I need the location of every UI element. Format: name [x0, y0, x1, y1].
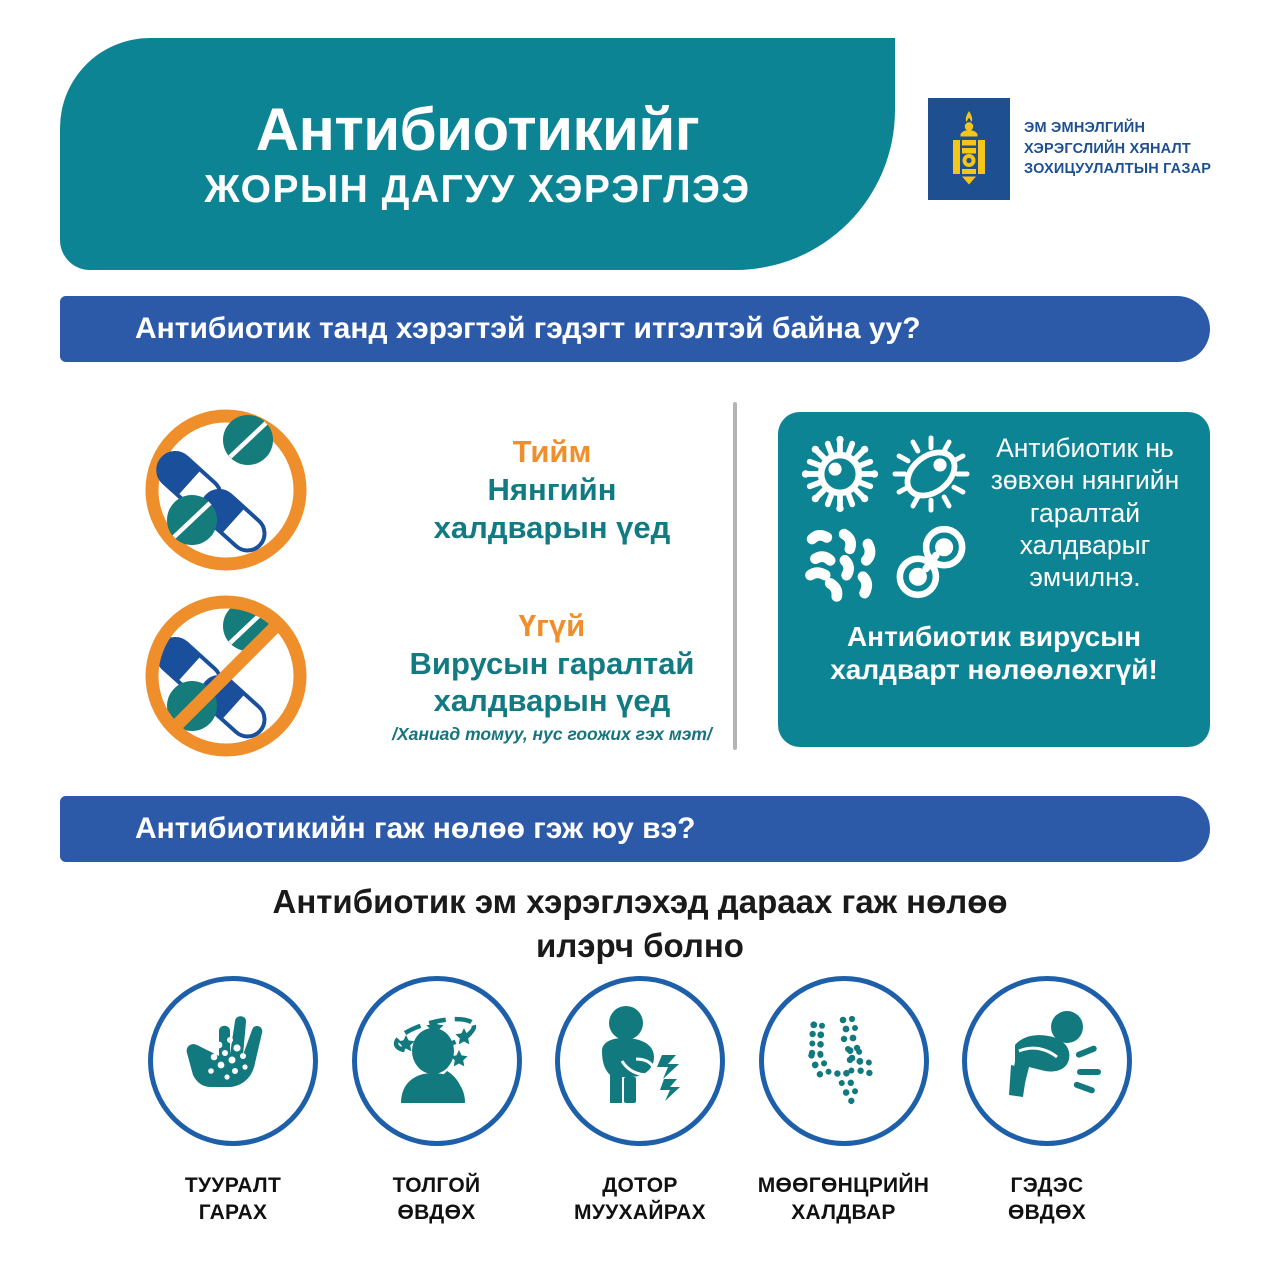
antibiotic-warning-text: Антибиотик вирусын халдварт нөлөөлөхгүй!	[794, 620, 1194, 686]
side-effect-item: ДОТОР МУУХАЙРАХ	[547, 976, 733, 1227]
stomach-ache-icon	[962, 976, 1132, 1146]
antibiotic-info-paragraph: Антибиотик нь зөвхөн нянгийн гаралтай ха…	[976, 430, 1194, 594]
hand-rash-icon	[148, 976, 318, 1146]
side-effect-label: ДОТОР МУУХАЙРАХ	[574, 1172, 706, 1227]
label-line-1: ТОЛГОЙ	[393, 1172, 481, 1199]
side-effect-label: ГЭДЭС ӨВДӨХ	[1008, 1172, 1086, 1227]
warning-line-2: халдварт нөлөөлөхгүй!	[794, 653, 1194, 686]
no-flag-label: Үгүй	[352, 607, 752, 645]
pills-forbidden-icon	[140, 590, 312, 762]
heading-line-2: илэрч болно	[0, 924, 1280, 968]
label-line-1: ТУУРАЛТ	[185, 1172, 281, 1199]
infographic-page: Антибиотикийг ЖОРЫН ДАГУУ ХЭРЭГЛЭЭ	[0, 0, 1280, 1280]
antibiotic-info-box: Антибиотик нь зөвхөн нянгийн гаралтай ха…	[778, 412, 1210, 747]
side-effect-label: ТОЛГОЙ ӨВДӨХ	[393, 1172, 481, 1227]
diplococcus-chain-icon	[885, 518, 976, 606]
side-effect-item: МӨӨГӨНЦРИЙН ХАЛДВАР	[751, 976, 937, 1227]
side-effect-item: ТУУРАЛТ ГАРАХ	[140, 976, 326, 1227]
dizzy-head-icon	[352, 976, 522, 1146]
label-line-1: ГЭДЭС	[1008, 1172, 1086, 1199]
page-title: Антибиотикийг	[256, 100, 700, 160]
yes-flag-label: Тийм	[352, 433, 752, 471]
page-subtitle: ЖОРЫН ДАГУУ ХЭРЭГЛЭЭ	[204, 170, 750, 209]
side-effects-heading: Антибиотик эм хэрэглэхэд дараах гаж нөлө…	[0, 880, 1280, 967]
yes-desc-line-2: халдварын үед	[352, 509, 752, 547]
org-line-1: ЭМ ЭМНЭЛГИЙН	[1024, 118, 1211, 139]
side-effect-item: ГЭДЭС ӨВДӨХ	[954, 976, 1140, 1227]
header-banner: Антибиотикийг ЖОРЫН ДАГУУ ХЭРЭГЛЭЭ	[60, 38, 895, 270]
yes-desc-line-1: Нянгийн	[352, 471, 752, 509]
side-effect-label: ТУУРАЛТ ГАРАХ	[185, 1172, 281, 1227]
no-desc-line-1: Вирусын гаралтай	[352, 645, 752, 683]
no-row: Үгүй Вирусын гаралтай халдварын үед /Хан…	[140, 590, 752, 762]
mongolia-soyombo-flag-icon	[928, 98, 1010, 200]
organization-logo: ЭМ ЭМНЭЛГИЙН ХЭРЭГСЛИЙН ХЯНАЛТ ЗОХИЦУУЛА…	[928, 98, 1211, 200]
bacterium-flagella-icon	[885, 430, 976, 518]
side-effect-label: МӨӨГӨНЦРИЙН ХАЛДВАР	[758, 1172, 930, 1227]
label-line-1: МӨӨГӨНЦРИЙН	[758, 1172, 930, 1199]
banner-1-text: Антибиотик танд хэрэгтэй гэдэгт итгэлтэй…	[135, 312, 921, 346]
teal-box-top: Антибиотик нь зөвхөн нянгийн гаралтай ха…	[794, 430, 1194, 606]
section-banner-side-effects: Антибиотикийн гаж нөлөө гэж юу вэ?	[60, 796, 1210, 862]
germ-icon-grid	[794, 430, 976, 606]
nausea-person-icon	[555, 976, 725, 1146]
section-banner-need-antibiotic: Антибиотик танд хэрэгтэй гэдэгт итгэлтэй…	[60, 296, 1210, 362]
bacilli-cluster-icon	[794, 518, 885, 606]
label-line-2: ХАЛДВАР	[758, 1199, 930, 1226]
fungal-spores-icon	[759, 976, 929, 1146]
heading-line-1: Антибиотик эм хэрэглэхэд дараах гаж нөлө…	[0, 880, 1280, 924]
label-line-2: МУУХАЙРАХ	[574, 1199, 706, 1226]
label-line-2: ГАРАХ	[185, 1199, 281, 1226]
warning-line-1: Антибиотик вирусын	[794, 620, 1194, 653]
label-line-1: ДОТОР	[574, 1172, 706, 1199]
yes-text-block: Тийм Нянгийн халдварын үед	[352, 433, 752, 546]
banner-2-text: Антибиотикийн гаж нөлөө гэж юу вэ?	[135, 812, 695, 846]
label-line-2: ӨВДӨХ	[1008, 1199, 1086, 1226]
virus-spiky-icon	[794, 430, 885, 518]
no-desc-line-2: халдварын үед	[352, 682, 752, 720]
pills-allowed-icon	[140, 404, 312, 576]
yes-row: Тийм Нянгийн халдварын үед	[140, 404, 752, 576]
org-line-3: ЗОХИЦУУЛАЛТЫН ГАЗАР	[1024, 159, 1211, 180]
no-text-block: Үгүй Вирусын гаралтай халдварын үед /Хан…	[352, 607, 752, 745]
org-line-2: ХЭРЭГСЛИЙН ХЯНАЛТ	[1024, 139, 1211, 160]
label-line-2: ӨВДӨХ	[393, 1199, 481, 1226]
side-effect-item: ТОЛГОЙ ӨВДӨХ	[344, 976, 530, 1227]
no-desc-note: /Ханиад томуу, нус гоожих гэх мэт/	[352, 724, 752, 745]
organization-name: ЭМ ЭМНЭЛГИЙН ХЭРЭГСЛИЙН ХЯНАЛТ ЗОХИЦУУЛА…	[1024, 118, 1211, 180]
side-effects-list: ТУУРАЛТ ГАРАХ	[140, 976, 1140, 1227]
